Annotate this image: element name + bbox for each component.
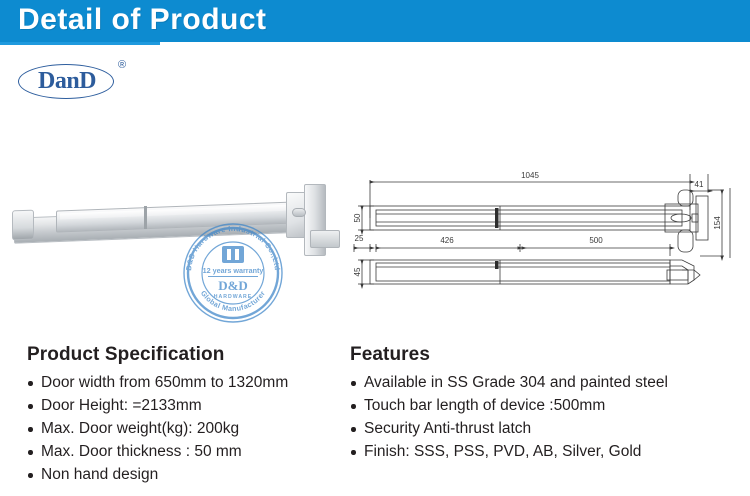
specification-heading: Product Specification	[27, 344, 347, 366]
product-end-cap	[12, 210, 34, 241]
watermark-glyph-bar-left	[227, 249, 231, 260]
features-list: Available in SS Grade 304 and painted st…	[350, 371, 742, 463]
dim-head-height: 154	[713, 216, 722, 230]
features-heading: Features	[350, 344, 742, 366]
brand-name: DanD	[24, 68, 110, 95]
dim-top-view-height: 50	[353, 213, 362, 222]
watermark-glyph-bar-right	[235, 249, 239, 260]
list-item: Max. Door weight(kg): 200kg	[27, 417, 347, 440]
product-photo: D&D Hardware Industrial Co.,Ltd Global M…	[4, 170, 349, 310]
header-banner: Detail of Product	[0, 0, 750, 42]
header-underline	[0, 42, 160, 45]
dim-end-offset: 25	[355, 234, 364, 243]
list-item: Door Height: =2133mm	[27, 394, 347, 417]
specification-section: Product Specification Door width from 65…	[27, 344, 347, 486]
list-item: Finish: SSS, PSS, PVD, AB, Silver, Gold	[350, 440, 742, 463]
technical-drawing: 1045 41 50 154 25 426 500 45	[352, 160, 748, 295]
dim-overall-length: 1045	[521, 171, 539, 180]
specification-list: Door width from 650mm to 1320mm Door Hei…	[27, 371, 347, 486]
product-latch-knob	[292, 208, 306, 217]
list-item: Max. Door thickness : 50 mm	[27, 440, 347, 463]
list-item: Touch bar length of device :500mm	[350, 394, 742, 417]
watermark-warranty: 12 years warranty	[203, 266, 264, 275]
list-item: Non hand design	[27, 463, 347, 486]
dim-base-rail-length: 426	[440, 236, 454, 245]
watermark-stamp: D&D Hardware Industrial Co.,Ltd Global M…	[180, 220, 286, 326]
dim-side-view-height: 45	[353, 267, 362, 276]
watermark-brand: D&D	[218, 278, 248, 293]
page-title: Detail of Product	[18, 3, 267, 37]
dim-touch-bar-length: 500	[589, 236, 603, 245]
list-item: Security Anti-thrust latch	[350, 417, 742, 440]
list-item: Available in SS Grade 304 and painted st…	[350, 371, 742, 394]
brand-logo: DanD ®	[18, 55, 138, 101]
product-latch-bolt	[310, 230, 340, 248]
watermark-brand-sub: HARDWARE	[214, 294, 253, 300]
registered-trademark-icon: ®	[118, 59, 126, 71]
watermark-glyph	[222, 246, 244, 263]
dim-head-width: 41	[695, 180, 704, 189]
features-section: Features Available in SS Grade 304 and p…	[350, 344, 742, 463]
product-rail-seam	[144, 206, 147, 229]
list-item: Door width from 650mm to 1320mm	[27, 371, 347, 394]
